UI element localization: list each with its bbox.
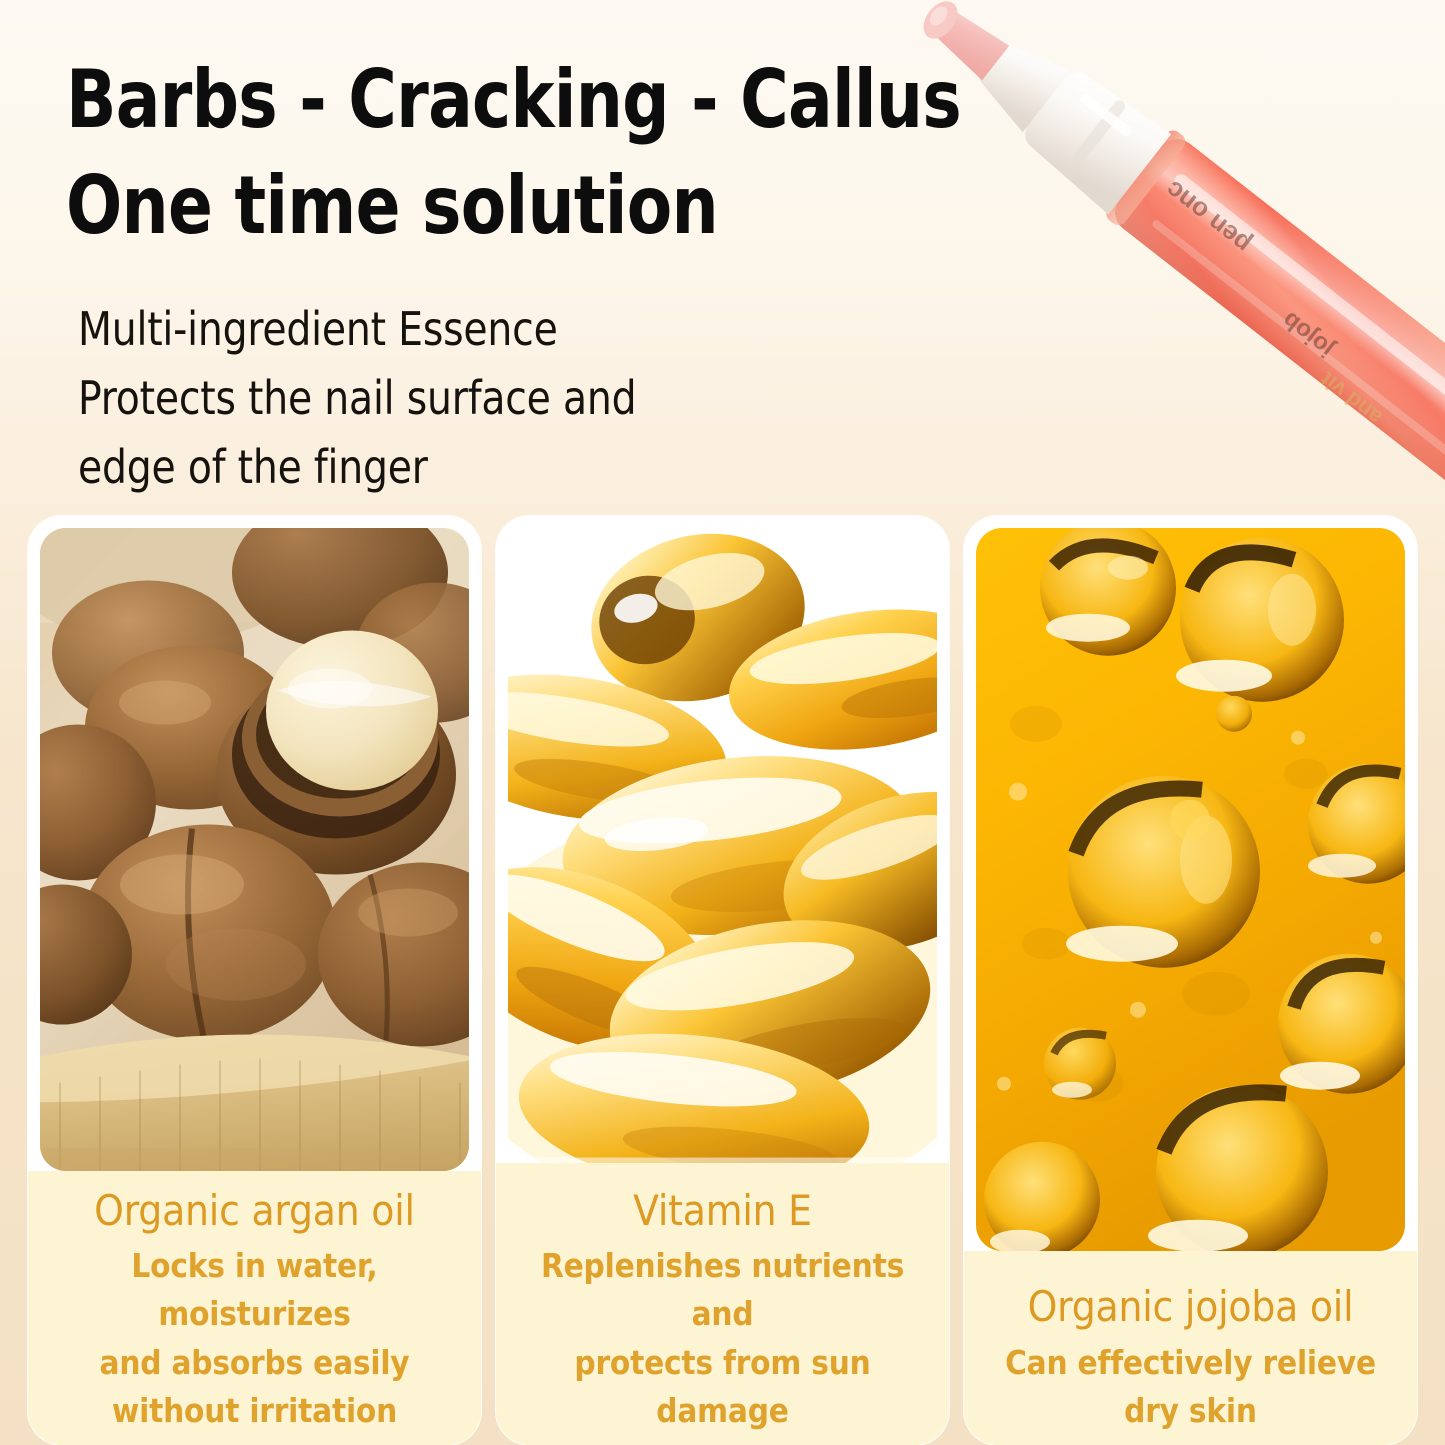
card-image-macadamia-nuts — [40, 528, 469, 1171]
svg-text:and vit: and vit — [1315, 366, 1387, 430]
page-title: Barbs - Cracking - Callus One time solut… — [66, 47, 1041, 258]
caption-title: Organic argan oil — [94, 1185, 415, 1236]
caption-body: Replenishes nutrients and protects from … — [512, 1242, 933, 1435]
svg-text:jojob: jojob — [1277, 306, 1340, 363]
card-caption-vitamin-e: Vitamin E Replenishes nutrients and prot… — [496, 1163, 949, 1445]
svg-text:pen onc: pen onc — [1159, 175, 1256, 260]
caption-title: Organic jojoba oil — [1028, 1281, 1354, 1332]
ingredient-card-vitamin-e[interactable]: Vitamin E Replenishes nutrients and prot… — [496, 516, 949, 1445]
card-image-vitamin-e-capsules — [508, 528, 937, 1163]
ingredient-card-grid: Organic argan oil Locks in water, moistu… — [0, 516, 1445, 1445]
jojoba-oil-bubbles-illustration — [976, 528, 1405, 1251]
page-subtitle: Multi-ingredient Essence Protects the na… — [78, 295, 800, 502]
card-caption-jojoba-oil: Organic jojoba oil Can effectively relie… — [964, 1251, 1417, 1445]
pen-label-text: pen onc jojob and vit — [1127, 175, 1422, 430]
caption-title: Vitamin E — [633, 1185, 812, 1236]
caption-body: Locks in water, moisturizes and absorbs … — [44, 1242, 465, 1435]
macadamia-nuts-illustration — [40, 528, 469, 1171]
ingredient-card-argan-oil[interactable]: Organic argan oil Locks in water, moistu… — [28, 516, 481, 1445]
caption-body: Can effectively relieve dry skin — [980, 1339, 1401, 1435]
product-marketing-poster: Barbs - Cracking - Callus One time solut… — [0, 0, 1445, 1445]
ingredient-card-jojoba-oil[interactable]: Organic jojoba oil Can effectively relie… — [964, 516, 1417, 1445]
card-image-jojoba-oil — [976, 528, 1405, 1251]
card-caption-argan-oil: Organic argan oil Locks in water, moistu… — [28, 1171, 481, 1445]
softgel-capsules-illustration — [508, 528, 937, 1163]
